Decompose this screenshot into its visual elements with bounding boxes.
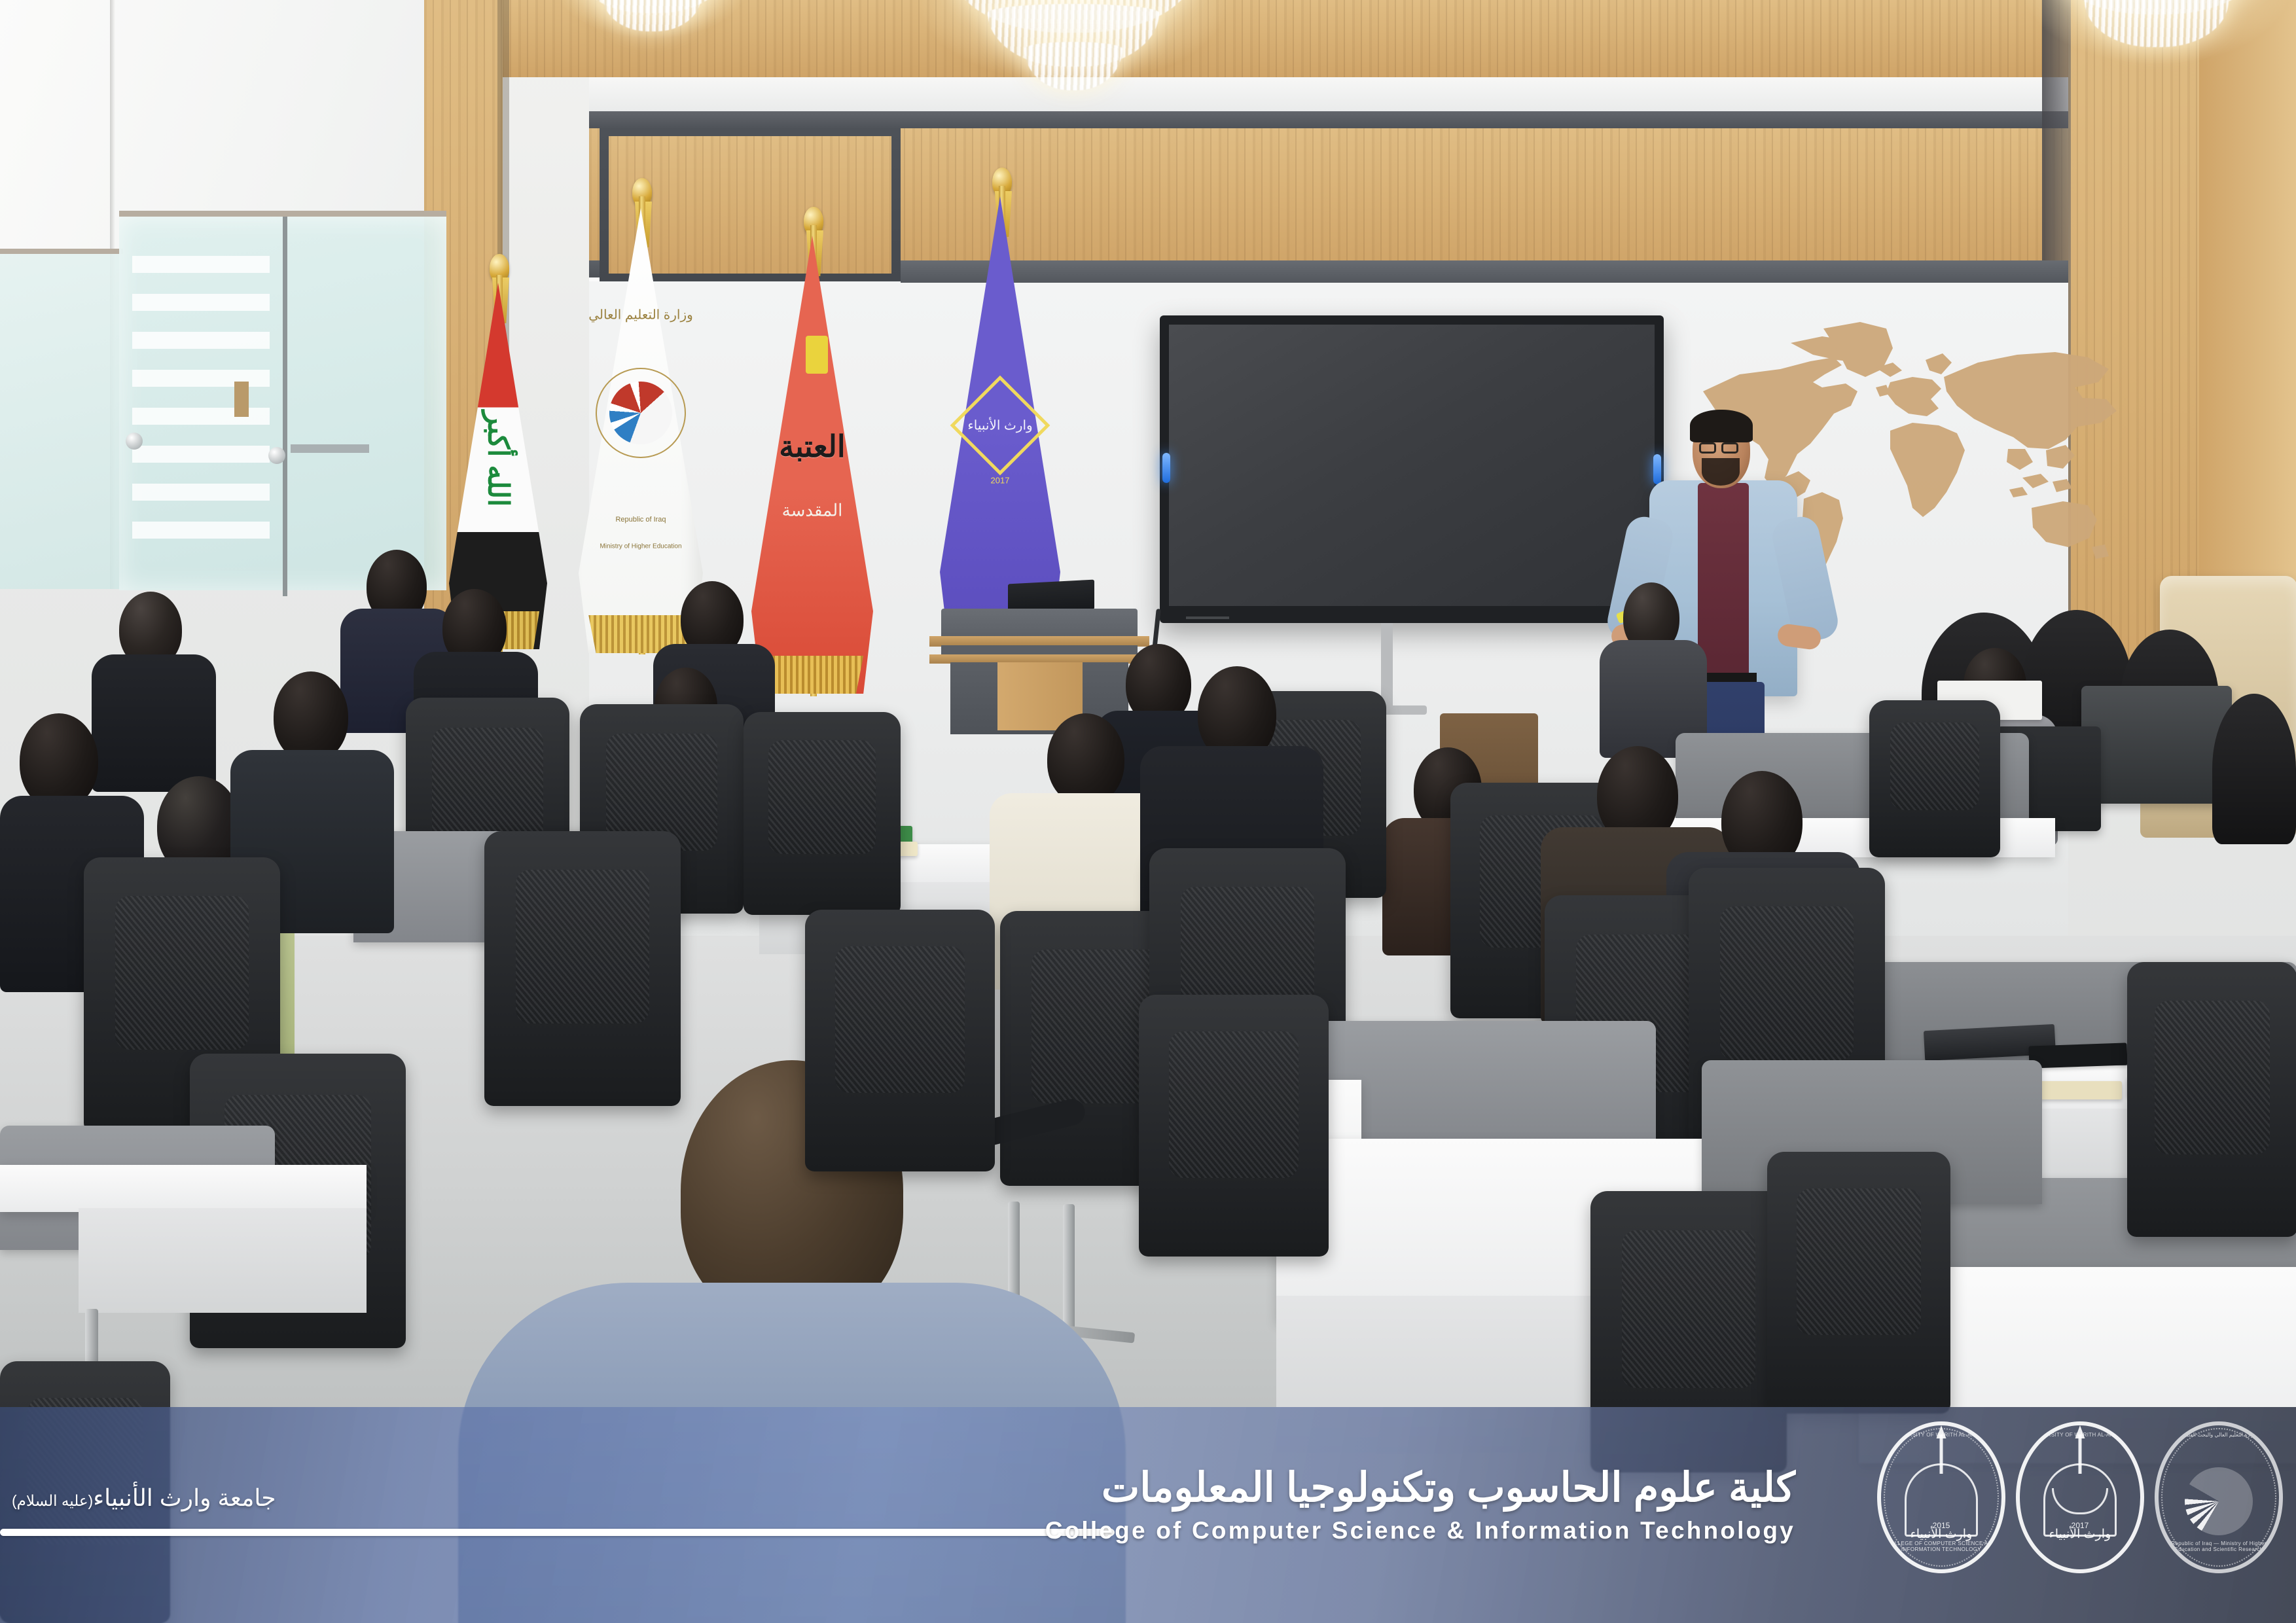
display-led-right xyxy=(1653,454,1661,484)
display-panel xyxy=(1169,325,1655,606)
phone-device[interactable] xyxy=(2028,1043,2127,1068)
footer-divider-line xyxy=(0,1529,1106,1536)
presenter-hair xyxy=(1690,410,1753,442)
wood-ceiling-panel xyxy=(484,0,2296,77)
lecture-hall-photo: الله أكبر وزارة التعليم العالي Republic … xyxy=(0,0,2296,1623)
display-stand xyxy=(1381,623,1393,708)
college-seal-en: UNIVERSITY OF WARITH AL-ANBIYAA xyxy=(1881,1432,2001,1438)
student-head xyxy=(1047,713,1124,805)
presenter-beard xyxy=(1702,458,1740,486)
presenter-glasses-left xyxy=(1699,442,1716,454)
chair-leg xyxy=(1063,1204,1075,1335)
office-chair[interactable] xyxy=(1767,1152,1950,1414)
glass-partition xyxy=(119,211,446,590)
student-desk xyxy=(0,1165,367,1212)
footer-banner: جامعة وارث الأنبياء(عليه السلام) كلية عل… xyxy=(0,1407,2296,1623)
ministry-seal-logo: وزارة التعليم العالي والبحث العلمي Repub… xyxy=(2155,1421,2283,1573)
office-chair[interactable] xyxy=(805,910,995,1171)
college-seal-year: 2015 xyxy=(1881,1521,2001,1530)
ceiling-white-trim xyxy=(589,77,2296,114)
presenter-shirt xyxy=(1698,483,1749,679)
footer-university-name: جامعة وارث الأنبياء(عليه السلام) xyxy=(12,1484,276,1512)
interactive-display[interactable] xyxy=(1160,315,1664,623)
office-chair[interactable] xyxy=(1139,995,1329,1257)
desk-front xyxy=(79,1208,367,1313)
wall-dark-strip xyxy=(901,260,2068,283)
footer-college-english: College of Computer Science & Informatio… xyxy=(1045,1517,1795,1544)
university-seal-year: 2017 xyxy=(2020,1521,2140,1530)
presenter-glasses-right xyxy=(1721,442,1738,454)
office-chair[interactable] xyxy=(1869,700,2000,857)
ministry-seal-ar: وزارة التعليم العالي والبحث العلمي xyxy=(2159,1432,2279,1438)
office-chair[interactable] xyxy=(484,831,681,1106)
student-head xyxy=(274,671,348,762)
office-chair[interactable] xyxy=(2127,962,2296,1237)
university-seal-logo: UNIVERSITY OF WARITH AL-ANBIYAA وارث الأ… xyxy=(2016,1421,2144,1573)
ministry-seal-en: Republic of Iraq — Ministry of Higher Ed… xyxy=(2159,1541,2279,1552)
college-seal-logo: UNIVERSITY OF WARITH AL-ANBIYAA وارث الأ… xyxy=(1877,1421,2005,1573)
glass-partition-outer xyxy=(0,249,123,589)
college-seal-sub: COLLEGE OF COMPUTER SCIENCE AND INFORMAT… xyxy=(1881,1541,2001,1552)
office-chair[interactable] xyxy=(744,712,901,915)
footer-logos: UNIVERSITY OF WARITH AL-ANBIYAA وارث الأ… xyxy=(1877,1421,2283,1573)
footer-college-arabic: كلية علوم الحاسوب وتكنولوجيا المعلومات xyxy=(1102,1463,1795,1511)
student-head xyxy=(20,713,98,809)
handbag xyxy=(2081,686,2232,804)
university-seal-en: UNIVERSITY OF WARITH AL-ANBIYAA xyxy=(2020,1432,2140,1438)
display-led-left xyxy=(1162,453,1170,483)
